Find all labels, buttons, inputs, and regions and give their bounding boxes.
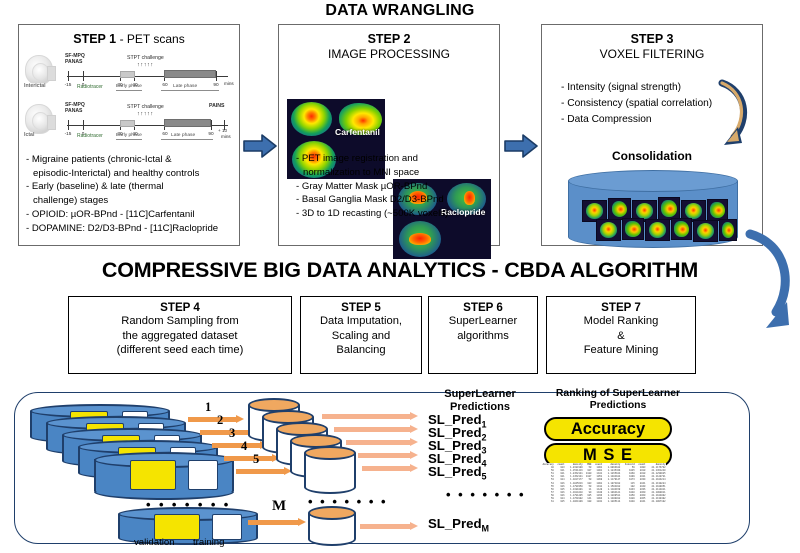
prediction-arrow-1 <box>322 412 418 420</box>
sl-prediction-sub: 5 <box>482 472 487 482</box>
brain-thumbnail <box>707 199 728 221</box>
ranking-results-table: AccuracycountdensityMSEcountdensityConco… <box>538 463 666 503</box>
cbda-section-title: COMPRESSIVE BIG DATA ANALYTICS - CBDA AL… <box>0 258 800 283</box>
step-5-line: Data Imputation, <box>301 314 421 329</box>
sl-prediction-sub: M <box>482 524 490 534</box>
prediction-arrow-4 <box>358 451 418 459</box>
brain-thumbnail <box>658 197 680 220</box>
step-1-bullet: - Early (baseline) & late (thermal <box>26 181 232 194</box>
sampling-arrow-m <box>248 518 306 526</box>
step-2-heading: STEP 2 IMAGE PROCESSING <box>279 25 499 61</box>
late-phase-label: Late phase <box>173 84 197 89</box>
sl-prediction-ellipsis: • • • • • • • <box>446 487 526 502</box>
sampling-arrow-number: 2 <box>217 413 223 428</box>
step-2-bullet: - PET image registration and <box>296 153 486 166</box>
step-1-panel: STEP 1 - PET scans Interictal SF-MPQ PAN… <box>18 24 240 246</box>
questionnaire-label-2: PANAS <box>65 60 82 66</box>
arrow-step2-to-step3 <box>504 133 538 164</box>
step-2-bullet: - 3D to 1D recasting (~500K voxels) <box>296 208 486 221</box>
step-1-title: STEP 1 <box>73 32 116 46</box>
sampling-arrow-number: 4 <box>241 439 247 454</box>
sl-prediction-base: SL_Pred <box>428 516 482 531</box>
step-2-bullet: normalization to MNI space <box>296 167 486 180</box>
pet-timeline-interictal: Interictal SF-MPQ PANAS STPT challenge ↑… <box>19 51 239 98</box>
brain-thumbnail <box>719 219 737 241</box>
radiotracer-label: Radiotracer <box>77 84 103 90</box>
step-6-title: STEP 6 <box>429 297 537 314</box>
step-1-heading: STEP 1 - PET scans <box>19 25 239 47</box>
step-1-bullet: episodic-Interictal) and healthy control… <box>26 168 232 181</box>
step-2-title: STEP 2 <box>368 32 411 46</box>
ranking-heading: Ranking of SuperLearner Predictions <box>528 388 708 413</box>
radiotracer-label: Radiotracer <box>77 133 103 139</box>
sl-prediction-item-m: SL_PredM <box>428 516 489 534</box>
tick-label: -15 <box>65 131 72 136</box>
step-1-bullet: challenge) stages <box>26 195 232 208</box>
sl-prediction-base: SL_Pred <box>428 464 482 479</box>
step-2-subtitle: IMAGE PROCESSING <box>279 47 499 61</box>
sampling-arrow-number: 5 <box>253 452 259 467</box>
validation-label: validation <box>134 537 175 548</box>
step-7-title: STEP 7 <box>547 297 695 314</box>
brain-thumbnail <box>596 219 621 241</box>
validation-block <box>130 460 176 490</box>
tick-label: 90 <box>213 82 218 87</box>
ranking-table: AccuracycountdensityMSEcountdensityConco… <box>538 463 666 503</box>
data-cylinder <box>94 452 234 500</box>
mins-label: mins <box>224 81 234 86</box>
mins-label: mins <box>221 134 231 139</box>
model-cylinder <box>304 446 356 494</box>
training-block <box>188 460 218 490</box>
stpt-arrows: ↑↑↑↑↑ <box>137 62 154 68</box>
step-1-bullet: - Migraine patients (chronic-Ictal & <box>26 154 232 167</box>
brain-thumbnail <box>622 218 644 240</box>
step-1-bullets: - Migraine patients (chronic-Ictal & epi… <box>19 154 239 236</box>
ranking-heading-line-1: Ranking of SuperLearner <box>528 388 708 400</box>
early-phase-label: Early phase <box>116 133 142 138</box>
step-4-line: Random Sampling from <box>69 314 291 329</box>
prediction-arrow-3 <box>346 438 418 446</box>
step-1-bullet: - DOPAMINE: D2/D3-BPnd - [11C]Raclopride <box>26 223 232 236</box>
sl-prediction-item: SL_Pred5 <box>428 464 487 482</box>
step-2-bullets: - PET image registration and normalizati… <box>289 153 493 222</box>
arrow-step3-to-cbda <box>742 228 800 343</box>
pet-caption-carfentanil: Carfentanil <box>335 127 380 137</box>
step-5-panel: STEP 5 Data Imputation, Scaling and Bala… <box>300 296 422 374</box>
step-4-line: (different seed each time) <box>69 343 291 358</box>
recycle-curved-arrow-icon <box>712 75 758 158</box>
sampling-arrow-number-m: M <box>272 498 286 515</box>
pet-timeline-ictal: Ictal SF-MPQ PANAS STPT challenge ↑↑↑↑↑ … <box>19 100 239 147</box>
sampling-arrow-3 <box>212 441 268 449</box>
timeline-graphic: SF-MPQ PANAS STPT challenge ↑↑↑↑↑ PAINS … <box>61 102 236 146</box>
step-7-panel: STEP 7 Model Ranking & Feature Mining <box>546 296 696 374</box>
stpt-challenge-label: STPT challenge <box>127 104 164 110</box>
questionnaire-label-2: PANAS <box>65 109 82 115</box>
tick-label: -15 <box>65 82 72 87</box>
step-3-title: STEP 3 <box>631 32 674 46</box>
head-scan-icon: Ictal <box>23 103 57 137</box>
step-3-panel: STEP 3 VOXEL FILTERING - Intensity (sign… <box>541 24 763 246</box>
step-4-title: STEP 4 <box>69 297 291 314</box>
brain-thumbnail <box>671 218 692 240</box>
pains-label: PAINS <box>209 103 224 109</box>
prediction-arrow-m <box>360 522 418 530</box>
step-4-panel: STEP 4 Random Sampling from the aggregat… <box>68 296 292 374</box>
tick-label: 90 <box>208 131 213 136</box>
step-1-subtitle: - PET scans <box>120 32 185 46</box>
head-scan-icon: Interictal <box>23 54 57 88</box>
tick-label: 60 <box>162 82 167 87</box>
step-2-panel: STEP 2 IMAGE PROCESSING Carfentanil Racl… <box>278 24 500 246</box>
timeline-graphic: SF-MPQ PANAS STPT challenge ↑↑↑↑↑ -15 0 … <box>61 53 236 97</box>
prediction-arrow-5 <box>362 464 418 472</box>
sampling-arrow-1 <box>188 415 244 423</box>
step-2-bullet: - Basal Ganglia Mask D2/D3-BPnd <box>296 194 486 207</box>
step-6-panel: STEP 6 SuperLearner algorithms <box>428 296 538 374</box>
sampling-arrow-4 <box>224 454 280 462</box>
step-5-line: Balancing <box>301 343 421 358</box>
step-7-line: & <box>547 329 695 344</box>
step-7-line: Model Ranking <box>547 314 695 329</box>
consolidation-label: Consolidation <box>542 149 762 163</box>
stpt-arrows: ↑↑↑↑↑ <box>137 111 154 117</box>
step-6-line: SuperLearner <box>429 314 537 329</box>
training-label: training <box>193 537 224 548</box>
brain-thumbnail <box>608 198 631 220</box>
sampling-arrow-number: 3 <box>229 426 235 441</box>
step-7-line: Feature Mining <box>547 343 695 358</box>
tick-label: 60 <box>162 131 167 136</box>
ranking-heading-line-2: Predictions <box>528 400 708 412</box>
step-5-line: Scaling and <box>301 329 421 344</box>
step-1-bullet: - OPIOID: µOR-BPnd - [11C]Carfentanil <box>26 209 232 222</box>
step-4-line: the aggregated dataset <box>69 329 291 344</box>
data-wrangling-title: DATA WRANGLING <box>0 2 800 20</box>
step-2-bullet: - Gray Matter Mask µOR-BPnd <box>296 181 486 194</box>
brain-thumbnail <box>693 220 718 242</box>
head-icon-label: Ictal <box>24 132 34 138</box>
arrow-step1-to-step2 <box>243 133 277 164</box>
step-3-subtitle: VOXEL FILTERING <box>542 47 762 61</box>
prediction-arrow-2 <box>334 425 418 433</box>
brain-thumbnail <box>645 219 670 241</box>
early-phase-label: Early phase <box>116 84 142 89</box>
sampling-arrow-number: 1 <box>205 400 211 415</box>
step-3-heading: STEP 3 VOXEL FILTERING <box>542 25 762 61</box>
step-6-line: algorithms <box>429 329 537 344</box>
late-phase-label: Late phase <box>171 133 195 138</box>
mins-extra-label: + 10 <box>218 128 227 133</box>
consolidation-cylinder <box>568 170 738 248</box>
sl-heading-line-1: SuperLearner <box>420 388 540 401</box>
accuracy-badge[interactable]: Accuracy <box>544 417 672 441</box>
step-5-title: STEP 5 <box>301 297 421 314</box>
model-cylinder-m <box>308 506 356 546</box>
head-icon-label: Interictal <box>24 83 46 89</box>
stpt-challenge-label: STPT challenge <box>127 55 164 61</box>
sampling-arrow-5 <box>236 467 292 475</box>
superlearner-predictions-heading: SuperLearner Predictions <box>420 388 540 414</box>
